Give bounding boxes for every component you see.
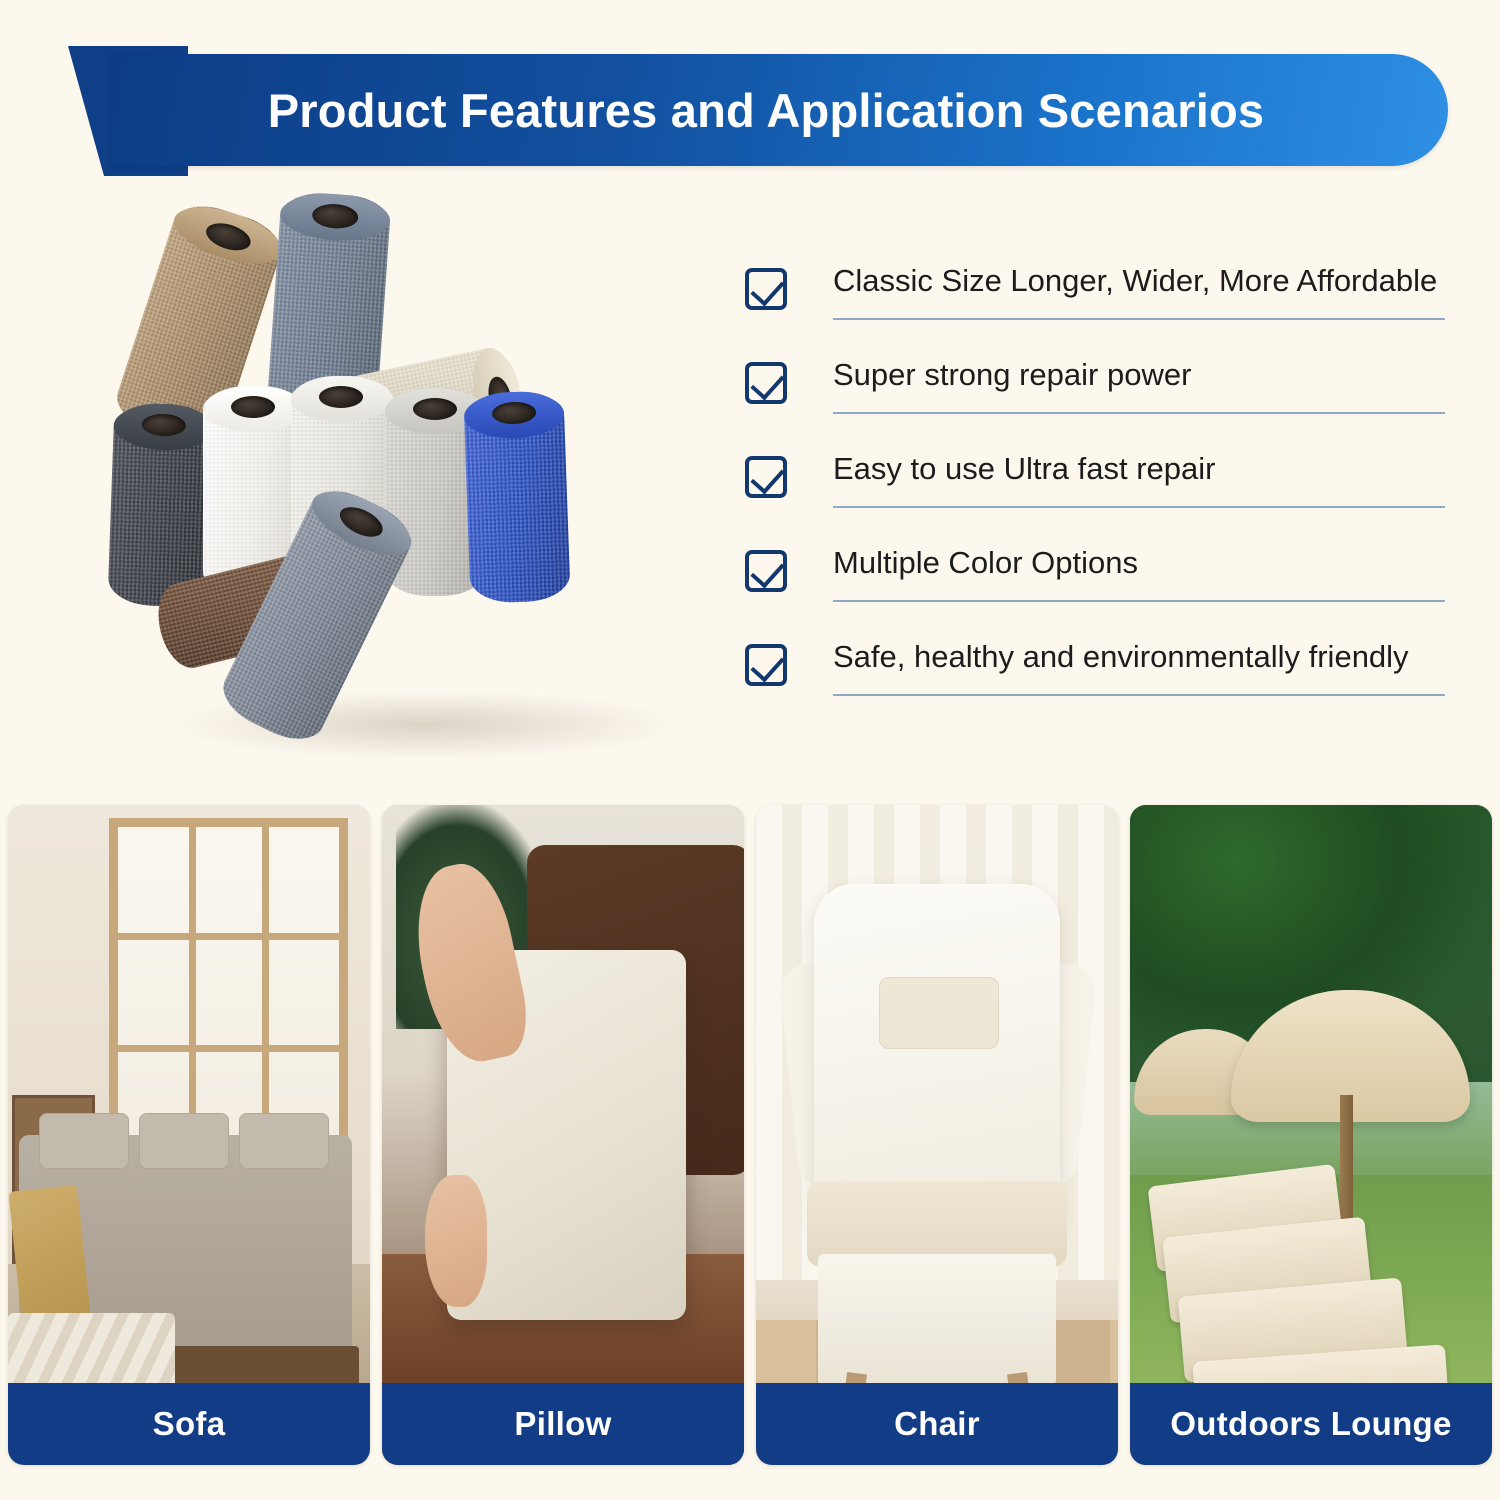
royal-blue-roll xyxy=(463,390,570,603)
outdoor-lounge-photo xyxy=(1130,805,1492,1465)
feature-label: Easy to use Ultra fast repair xyxy=(833,450,1445,489)
chair-skirt xyxy=(818,1254,1057,1386)
scenario-label: Chair xyxy=(756,1383,1118,1465)
scenario-label: Pillow xyxy=(382,1383,744,1465)
feature-divider xyxy=(833,412,1445,414)
product-image xyxy=(95,190,735,790)
feature-item-5: Safe, healthy and environmentally friend… xyxy=(745,638,1445,732)
feature-divider xyxy=(833,318,1445,320)
scenario-card-sofa[interactable]: Sofa xyxy=(8,805,370,1465)
chair-back xyxy=(814,884,1060,1227)
sofa-photo xyxy=(8,805,370,1465)
pillow-photo xyxy=(382,805,744,1465)
checkbox-checked-icon xyxy=(745,550,787,592)
checkbox-checked-icon xyxy=(745,456,787,498)
feature-label: Safe, healthy and environmentally friend… xyxy=(833,638,1445,677)
scenario-card-row: Sofa Pillow xyxy=(8,805,1492,1465)
feature-divider xyxy=(833,506,1445,508)
checkbox-checked-icon xyxy=(745,644,787,686)
header-bar: Product Features and Application Scenari… xyxy=(110,54,1448,166)
scenario-card-pillow[interactable]: Pillow xyxy=(382,805,744,1465)
scenario-card-outdoors-lounge[interactable]: Outdoors Lounge xyxy=(1130,805,1492,1465)
chair-headrest xyxy=(879,977,998,1050)
scenario-label: Outdoors Lounge xyxy=(1130,1383,1492,1465)
feature-item-3: Easy to use Ultra fast repair xyxy=(745,450,1445,544)
checkbox-checked-icon xyxy=(745,362,787,404)
infographic-page: Product Features and Application Scenari… xyxy=(0,0,1500,1500)
feature-label: Classic Size Longer, Wider, More Afforda… xyxy=(833,262,1445,301)
throw-blanket xyxy=(9,1185,91,1323)
feature-label: Multiple Color Options xyxy=(833,544,1445,583)
feature-divider xyxy=(833,600,1445,602)
scenario-label: Sofa xyxy=(8,1383,370,1465)
feature-divider xyxy=(833,694,1445,696)
chair-photo xyxy=(756,805,1118,1465)
scenario-card-chair[interactable]: Chair xyxy=(756,805,1118,1465)
feature-list: Classic Size Longer, Wider, More Afforda… xyxy=(745,262,1445,732)
feature-label: Super strong repair power xyxy=(833,356,1445,395)
feature-item-4: Multiple Color Options xyxy=(745,544,1445,638)
feature-item-1: Classic Size Longer, Wider, More Afforda… xyxy=(745,262,1445,356)
checkbox-checked-icon xyxy=(745,268,787,310)
header-banner: Product Features and Application Scenari… xyxy=(0,46,1460,176)
feature-item-2: Super strong repair power xyxy=(745,356,1445,450)
page-title: Product Features and Application Scenari… xyxy=(268,83,1290,138)
hand-bottom xyxy=(425,1175,487,1307)
